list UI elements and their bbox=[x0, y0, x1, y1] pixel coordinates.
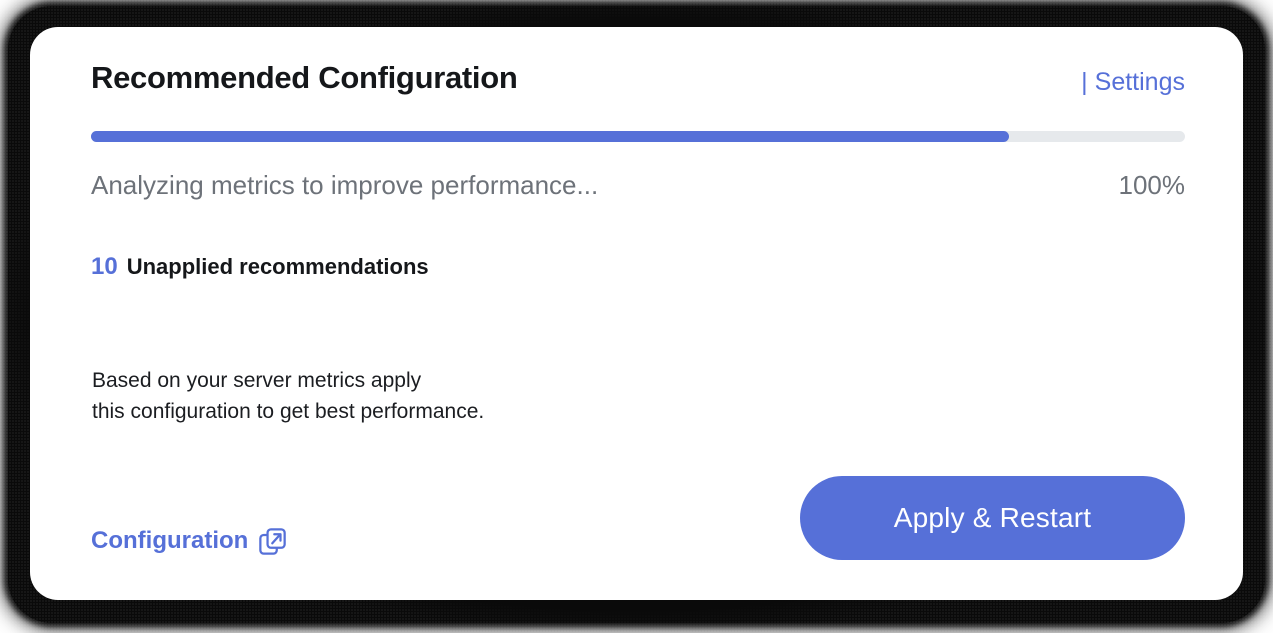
description-text: Based on your server metrics apply this … bbox=[92, 365, 484, 427]
progress-status-text: Analyzing metrics to improve performance… bbox=[91, 170, 598, 201]
progress-status-row: Analyzing metrics to improve performance… bbox=[91, 170, 1185, 204]
card-header: Recommended Configuration | Settings bbox=[91, 60, 1185, 106]
page-title: Recommended Configuration bbox=[91, 60, 518, 96]
configuration-link[interactable]: Configuration bbox=[91, 527, 286, 555]
external-link-icon bbox=[259, 528, 286, 555]
settings-link[interactable]: | Settings bbox=[1081, 68, 1185, 97]
recommendations-label: Unapplied recommendations bbox=[127, 254, 429, 280]
card-content: Recommended Configuration | Settings Ana… bbox=[91, 27, 1185, 600]
settings-divider: | bbox=[1081, 68, 1088, 97]
recommendations-count: 10 bbox=[91, 253, 118, 281]
screen: Recommended Configuration | Settings Ana… bbox=[0, 0, 1273, 633]
progress-bar-fill bbox=[91, 131, 1009, 142]
progress-bar-track bbox=[91, 131, 1185, 142]
apply-and-restart-button[interactable]: Apply & Restart bbox=[800, 476, 1185, 560]
recommended-configuration-card: Recommended Configuration | Settings Ana… bbox=[30, 27, 1243, 600]
configuration-link-label: Configuration bbox=[91, 527, 248, 555]
progress-percent-label: 100% bbox=[1119, 170, 1186, 201]
unapplied-recommendations-row: 10 Unapplied recommendations bbox=[91, 253, 429, 281]
settings-link-label: Settings bbox=[1095, 68, 1185, 97]
